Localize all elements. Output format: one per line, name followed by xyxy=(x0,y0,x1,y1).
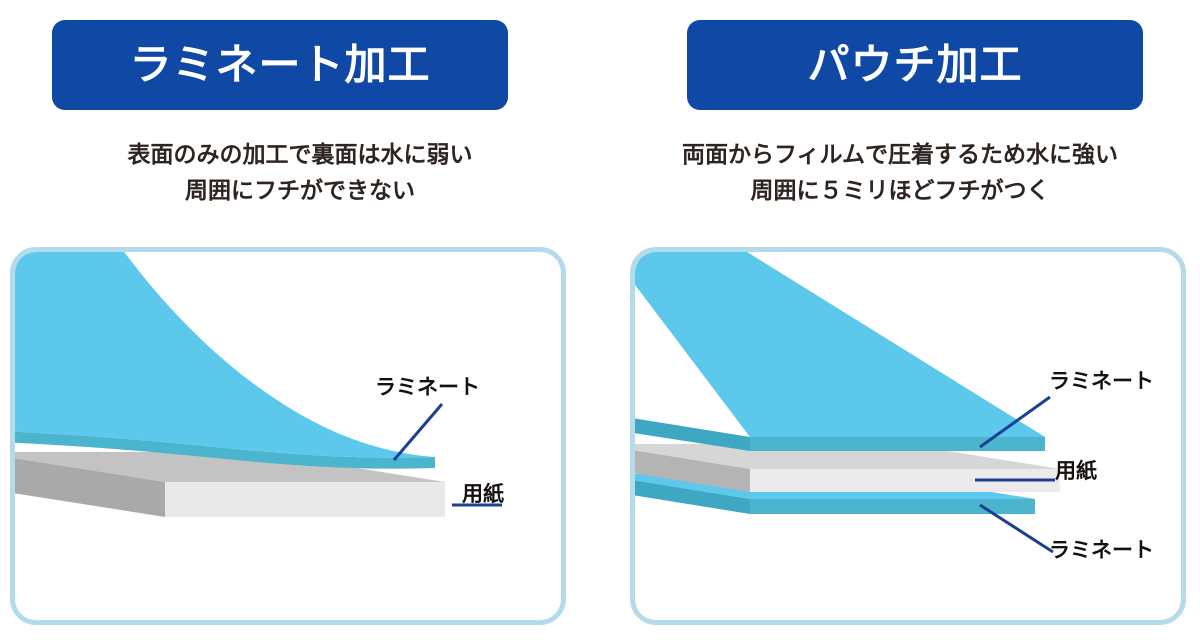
laminate-top-front-face xyxy=(750,437,1045,451)
description-line-1: 表面のみの加工で裏面は水に弱い xyxy=(0,137,600,173)
panel-pouch-description: 両面からフィルムで圧着するため水に強い 周囲に５ミリほどフチがつく xyxy=(600,137,1200,208)
panel-pouch-title-pill: パウチ加工 xyxy=(687,20,1143,110)
laminate-top-top-face xyxy=(635,252,1045,437)
comparison-infographic: ラミネート加工 表面のみの加工で裏面は水に弱い 周囲にフチができない xyxy=(0,0,1200,640)
callout-paper: 用紙 xyxy=(1055,461,1097,482)
panel-pouch-title: パウチ加工 xyxy=(807,44,1022,86)
callout-laminate-bottom: ラミネート xyxy=(1049,540,1154,561)
panel-laminate-title-pill: ラミネート加工 xyxy=(52,20,508,110)
callout-laminate: ラミネート xyxy=(375,377,480,398)
panel-pouch-illustration-card: ラミネート 用紙 ラミネート xyxy=(630,247,1186,625)
callout-paper: 用紙 xyxy=(462,484,504,505)
panel-laminate: ラミネート加工 表面のみの加工で裏面は水に弱い 周囲にフチができない xyxy=(0,0,600,640)
description-line-2: 周囲にフチができない xyxy=(0,173,600,209)
panel-pouch: パウチ加工 両面からフィルムで圧着するため水に強い 周囲に５ミリほどフチがつく xyxy=(600,0,1200,640)
laminate-diagram xyxy=(15,252,561,620)
pouch-diagram xyxy=(635,252,1181,620)
laminate-sheet-top xyxy=(635,252,1045,451)
callout-laminate-top: ラミネート xyxy=(1049,371,1154,392)
panel-laminate-title: ラミネート加工 xyxy=(129,44,430,86)
paper-front-face xyxy=(165,482,445,517)
panel-laminate-illustration-card: ラミネート 用紙 xyxy=(10,247,566,625)
description-line-2: 周囲に５ミリほどフチがつく xyxy=(600,173,1200,209)
panel-laminate-description: 表面のみの加工で裏面は水に弱い 周囲にフチができない xyxy=(0,137,600,208)
description-line-1: 両面からフィルムで圧着するため水に強い xyxy=(600,137,1200,173)
laminate-sheet-top xyxy=(15,252,435,458)
leader-line-laminate xyxy=(394,404,442,460)
